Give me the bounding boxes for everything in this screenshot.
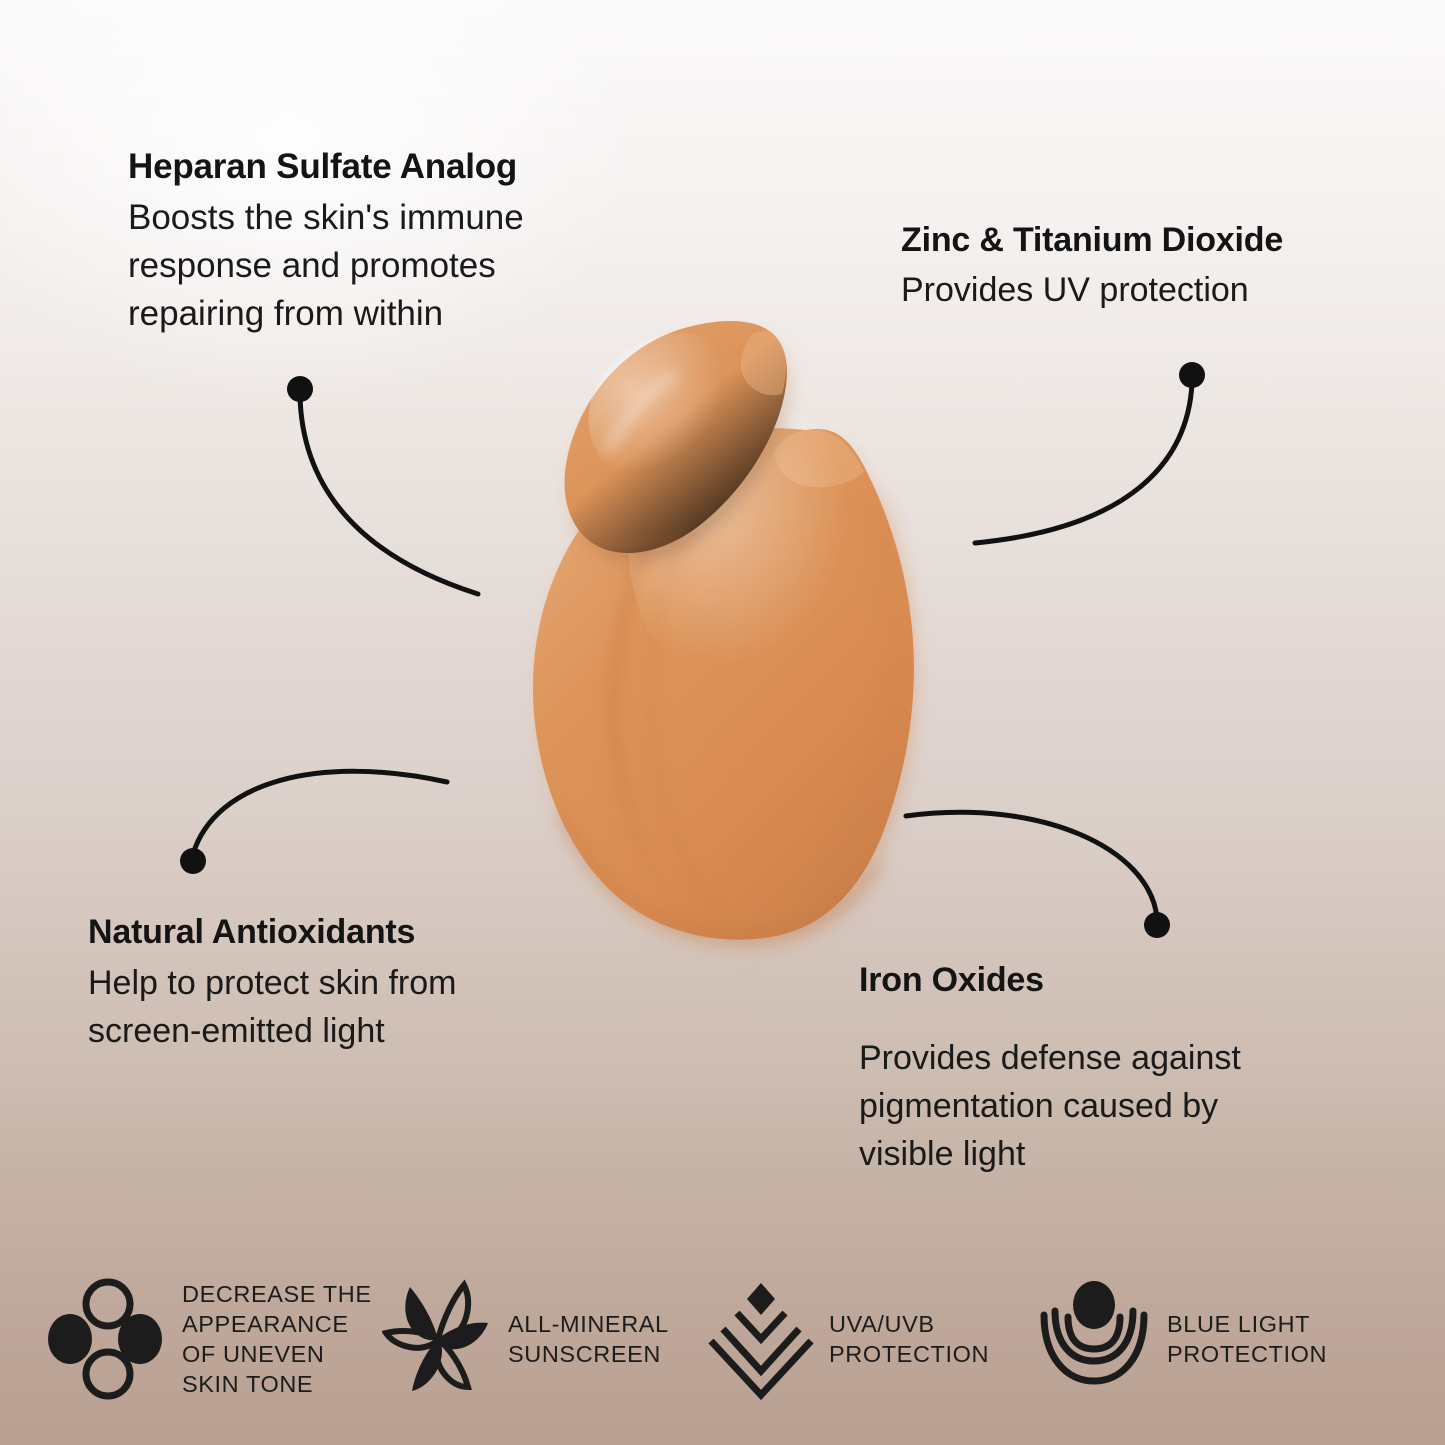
callout-body-line: visible light [859, 1130, 1241, 1178]
connector-zinc-dot [1179, 362, 1205, 388]
callout-body-line: repairing from within [128, 290, 524, 338]
benefit-label-line: SUNSCREEN [508, 1339, 669, 1369]
callout-body-line: Help to protect skin from [88, 959, 456, 1007]
benefit-label: ALL-MINERAL SUNSCREEN [508, 1309, 669, 1369]
callout-body: Provides defense against pigmentation ca… [859, 1034, 1241, 1178]
callout-title: Zinc & Titanium Dioxide [901, 218, 1283, 262]
connector-zinc-line [975, 383, 1192, 543]
benefit-label-line: BLUE LIGHT [1167, 1309, 1327, 1339]
benefit-all-mineral-sunscreen: ALL-MINERAL SUNSCREEN [368, 1277, 693, 1401]
benefit-label-line: OF UNEVEN [182, 1339, 372, 1369]
chevron-rays-icon [707, 1277, 815, 1401]
callout-body-line: screen-emitted light [88, 1007, 456, 1055]
benefit-label-line: SKIN TONE [182, 1369, 372, 1399]
callout-body-line: response and promotes [128, 242, 524, 290]
callout-heparan-sulfate: Heparan Sulfate Analog Boosts the skin's… [128, 145, 524, 338]
callout-body-line: Provides defense against [859, 1034, 1241, 1082]
benefit-blue-light-protection: BLUE LIGHT PROTECTION [1023, 1277, 1397, 1401]
mineral-flower-icon [382, 1277, 494, 1401]
benefit-label-line: UVA/UVB [829, 1309, 989, 1339]
callout-iron-oxides: Iron Oxides Provides defense against pig… [859, 958, 1241, 1178]
connector-antioxidants-line [193, 771, 447, 854]
benefit-label-line: PROTECTION [829, 1339, 989, 1369]
benefit-label-line: ALL-MINERAL [508, 1309, 669, 1339]
callout-title: Iron Oxides [859, 958, 1241, 1002]
benefit-label: DECREASE THE APPEARANCE OF UNEVEN SKIN T… [182, 1279, 372, 1399]
callout-title: Heparan Sulfate Analog [128, 145, 524, 189]
benefit-label-line: PROTECTION [1167, 1339, 1327, 1369]
callout-body: Provides UV protection [901, 266, 1283, 314]
benefit-decrease-uneven-skin-tone: DECREASE THE APPEARANCE OF UNEVEN SKIN T… [0, 1277, 368, 1401]
ingredient-infographic: Heparan Sulfate Analog Boosts the skin's… [0, 0, 1445, 1445]
benefit-strip: DECREASE THE APPEARANCE OF UNEVEN SKIN T… [0, 1277, 1445, 1401]
connector-iron-dot [1144, 912, 1170, 938]
callout-title: Natural Antioxidants [88, 910, 456, 954]
connector-antioxidants-dot [180, 848, 206, 874]
callout-body-line: Provides UV protection [901, 266, 1283, 314]
blue-light-waves-icon [1035, 1277, 1153, 1401]
callout-natural-antioxidants: Natural Antioxidants Help to protect ski… [88, 910, 456, 1055]
callout-zinc-titanium-dioxide: Zinc & Titanium Dioxide Provides UV prot… [901, 218, 1283, 314]
benefit-uva-uvb-protection: UVA/UVB PROTECTION [693, 1277, 1023, 1401]
four-circles-icon [48, 1277, 168, 1401]
callout-body: Boosts the skin's immune response and pr… [128, 194, 524, 338]
callout-body-line: Boosts the skin's immune [128, 194, 524, 242]
connector-heparan-line [300, 396, 478, 594]
benefit-label: BLUE LIGHT PROTECTION [1167, 1309, 1327, 1369]
benefit-label-line: DECREASE THE [182, 1279, 372, 1309]
callout-body: Help to protect skin from screen-emitted… [88, 959, 456, 1055]
connector-heparan-dot [287, 376, 313, 402]
benefit-label-line: APPEARANCE [182, 1309, 372, 1339]
benefit-label: UVA/UVB PROTECTION [829, 1309, 989, 1369]
callout-body-line: pigmentation caused by [859, 1082, 1241, 1130]
connector-iron-line [906, 812, 1157, 918]
